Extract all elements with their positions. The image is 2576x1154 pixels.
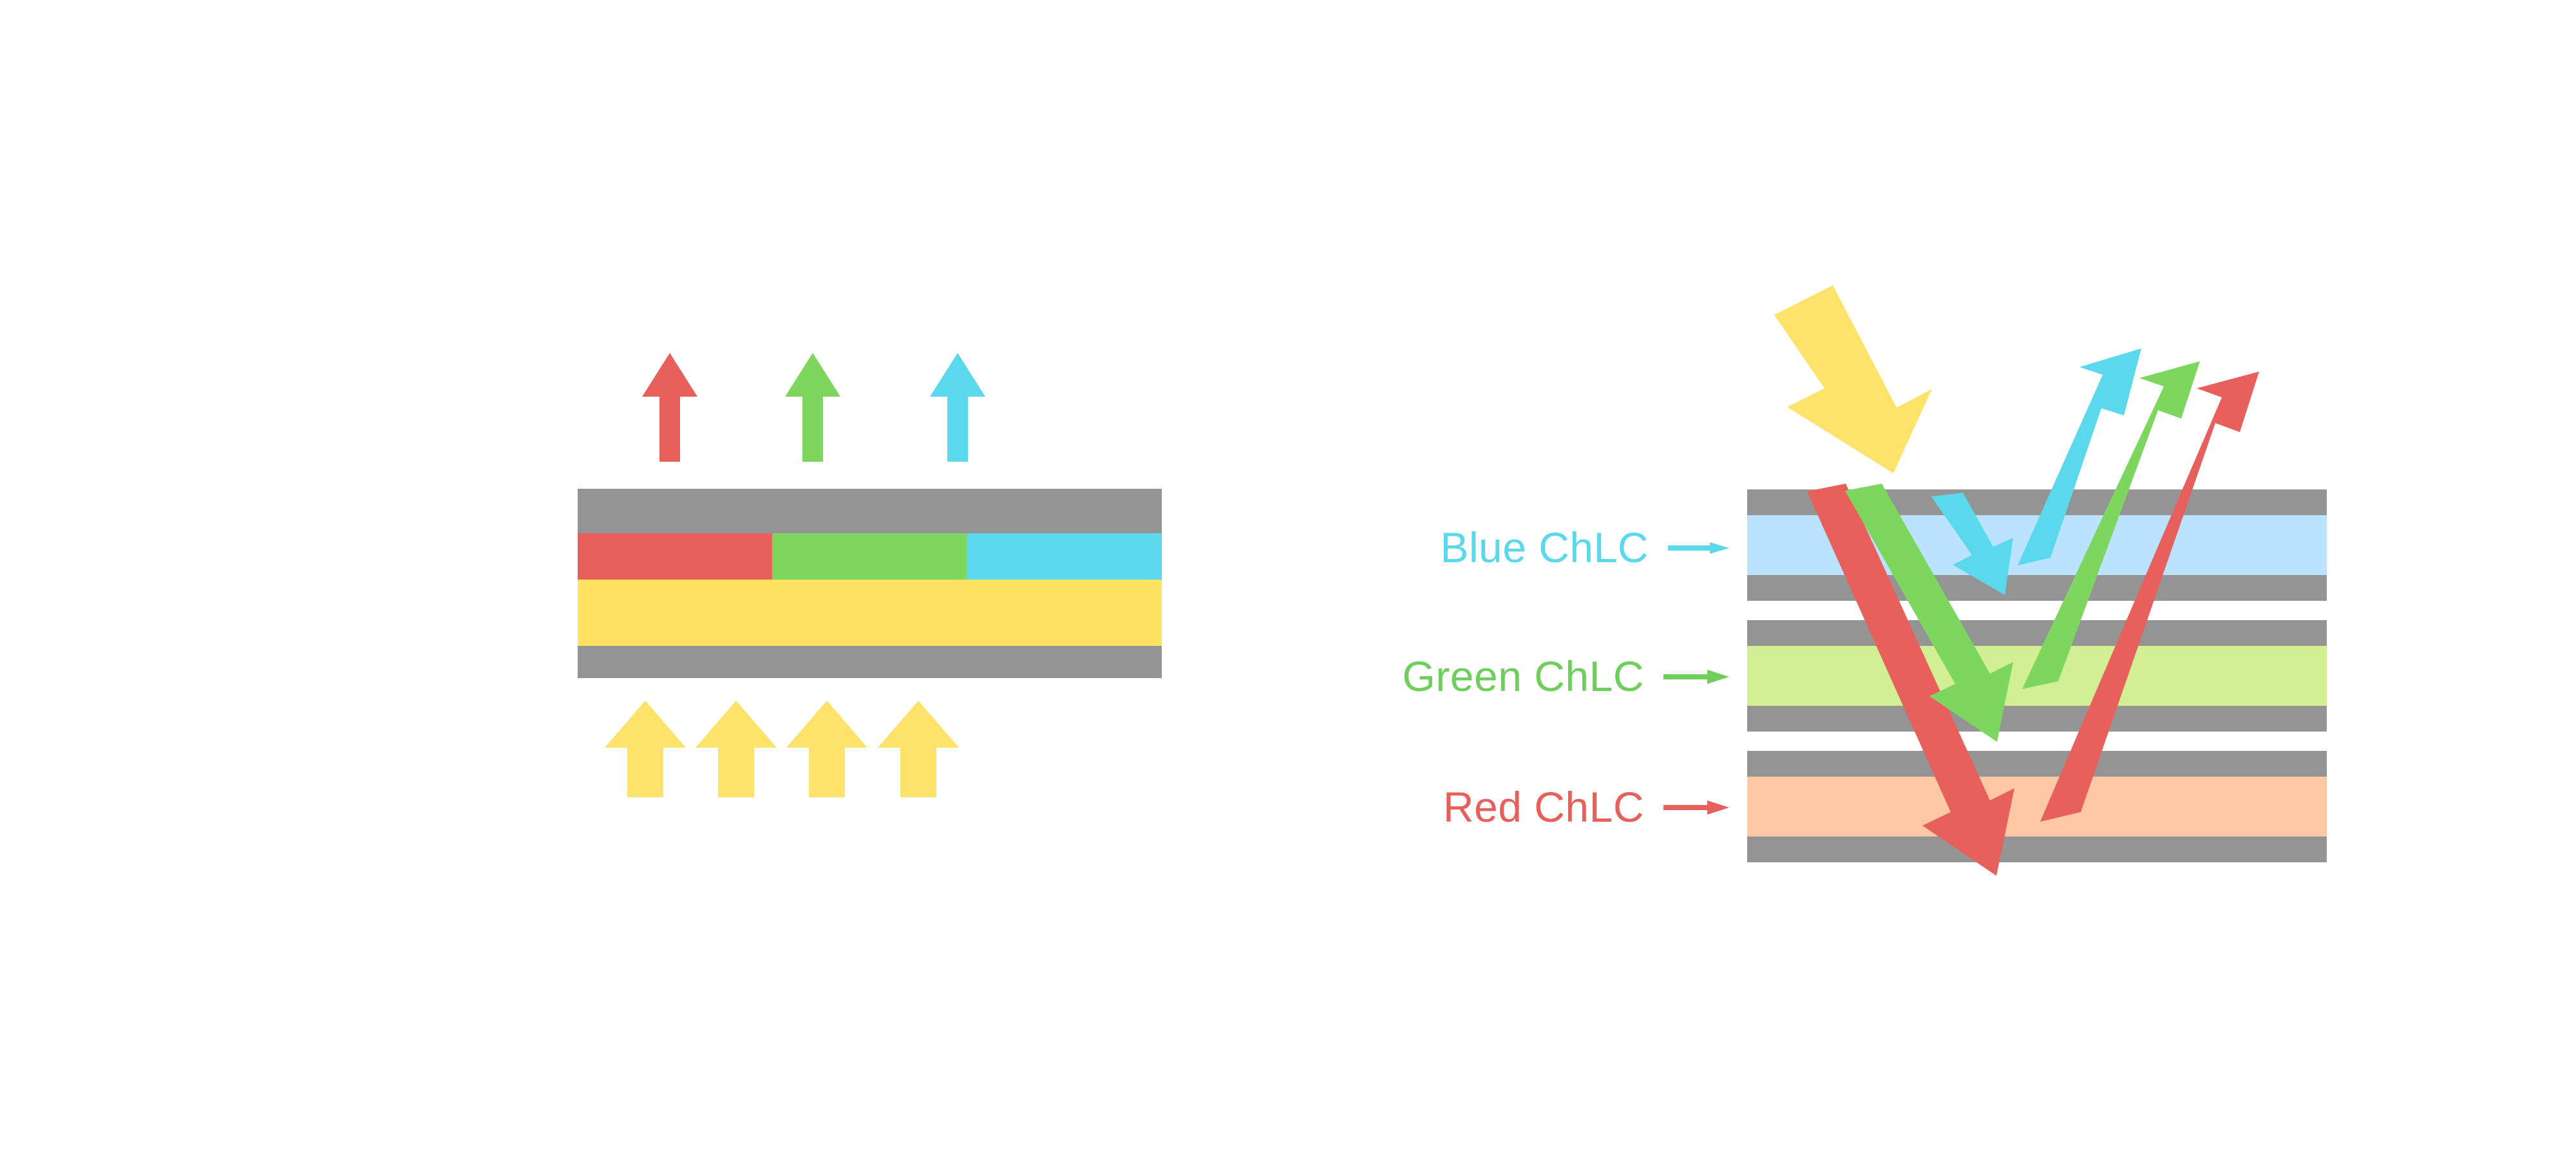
blue-chlc-label: Blue ChLC — [1440, 524, 1649, 571]
green-cell-bottom-electrode — [1747, 706, 2327, 732]
red-cell-top-electrode — [1747, 751, 2327, 777]
right-panel-group: Blue ChLC Green ChLC Red ChLC — [0, 0, 2576, 1154]
blue-cell-bottom-electrode — [1747, 575, 2327, 601]
green-chlc-label-arrow — [1663, 670, 1729, 684]
red-cell-lc-layer — [1747, 777, 2327, 837]
red-chlc-label-arrow — [1663, 800, 1729, 815]
red-chlc-label: Red ChLC — [1443, 783, 1644, 831]
figure-canvas: Blue ChLC Green ChLC Red ChLC — [0, 0, 2576, 1154]
green-cell-top-electrode — [1747, 620, 2327, 646]
blue-chlc-label-arrow — [1668, 542, 1729, 554]
red-cell-bottom-electrode — [1747, 837, 2327, 862]
green-chlc-label: Green ChLC — [1402, 652, 1644, 700]
incident-white-light-arrow — [1774, 285, 1932, 473]
